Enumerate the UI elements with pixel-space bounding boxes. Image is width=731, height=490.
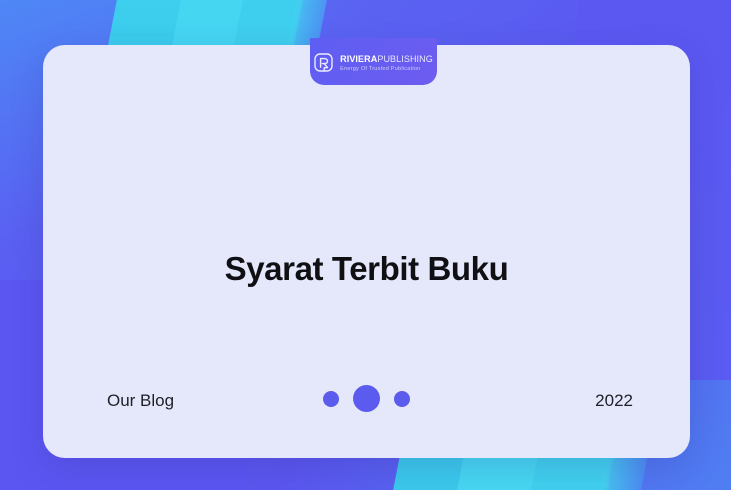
footer-year-label: 2022 bbox=[595, 391, 633, 411]
page-title: Syarat Terbit Buku bbox=[43, 250, 690, 288]
pagination-dot-3[interactable] bbox=[394, 391, 410, 407]
slide-canvas: Syarat Terbit Buku Our Blog 2022 RIVIERA… bbox=[0, 0, 731, 490]
content-card: Syarat Terbit Buku Our Blog 2022 bbox=[43, 45, 690, 458]
pagination-dot-2-active[interactable] bbox=[353, 385, 380, 412]
brand-name-bold: RIVIERA bbox=[340, 54, 377, 64]
brand-name-light: PUBLISHING bbox=[377, 54, 433, 64]
brand-logo-name: RIVIERAPUBLISHING bbox=[340, 55, 433, 64]
brand-logo-badge: RIVIERAPUBLISHING Energy Of Trusted Publ… bbox=[310, 38, 437, 85]
brand-logo-tagline: Energy Of Trusted Publication bbox=[340, 67, 433, 73]
brand-logo-text: RIVIERAPUBLISHING Energy Of Trusted Publ… bbox=[340, 55, 433, 72]
pagination-dot-1[interactable] bbox=[323, 391, 339, 407]
riviera-logo-mark-icon bbox=[314, 53, 334, 75]
footer-blog-label: Our Blog bbox=[107, 391, 174, 411]
